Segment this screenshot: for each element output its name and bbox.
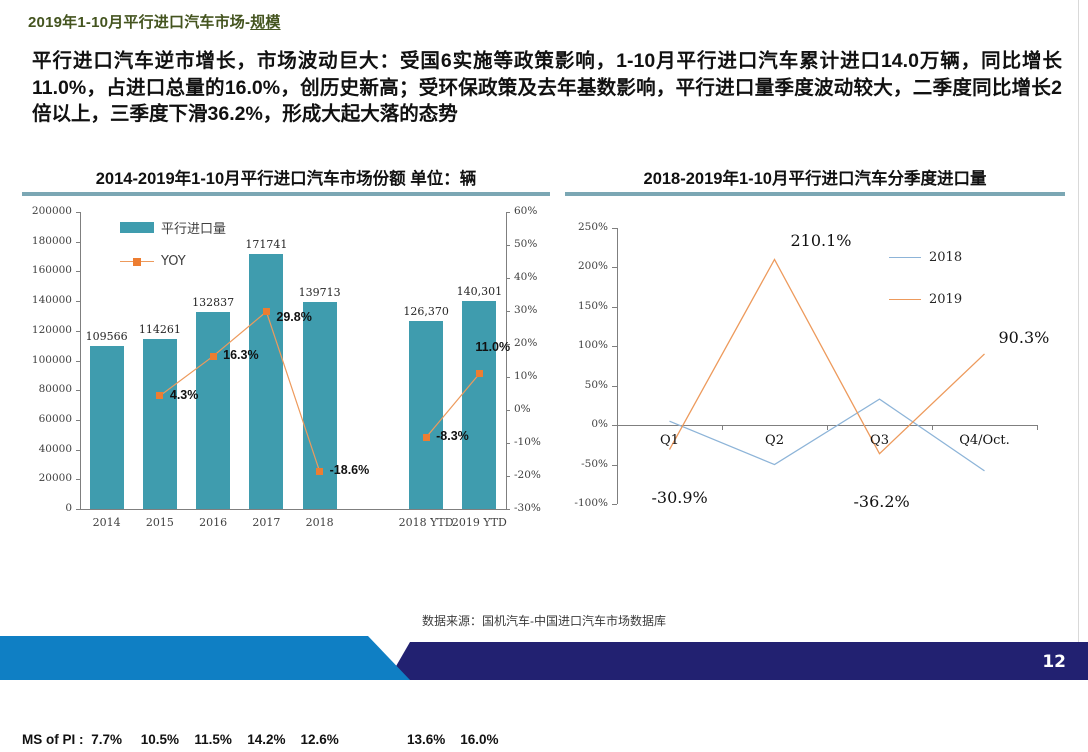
page-title-emphasis: 规模 (250, 14, 280, 31)
x-axis-category-label: 2019 YTD (445, 516, 513, 529)
right-chart-panel: 2018-2019年1-10月平行进口汽车分季度进口量 -100%-50%0%5… (565, 165, 1065, 540)
yoy-marker (210, 353, 217, 360)
legend-label: 2019 (929, 292, 962, 307)
yoy-value-label: 16.3% (223, 348, 258, 362)
x-axis-category-label: Q1 (625, 433, 715, 448)
x-axis-category-label: Q3 (835, 433, 925, 448)
legend-label: YOY (161, 254, 186, 269)
page-number: 12 (1042, 652, 1066, 672)
data-point-annotation: 210.1% (791, 231, 852, 250)
yoy-value-label: 4.3% (170, 388, 199, 402)
yoy-marker (263, 308, 270, 315)
ms-of-pi-row: MS of PI :7.7%10.5%11.5%14.2%12.6%13.6%1… (22, 732, 550, 752)
data-point-annotation: -30.9% (652, 488, 708, 507)
yoy-value-label: 11.0% (475, 340, 510, 354)
legend-item-line: YOY (120, 254, 186, 269)
x-axis-category-label: 2018 (286, 516, 354, 529)
x-axis-category-label: Q2 (730, 433, 820, 448)
footer-left-band (0, 636, 440, 680)
yoy-marker (476, 370, 483, 377)
legend-item-bar: 平行进口量 (120, 218, 226, 237)
summary-paragraph: 平行进口汽车逆市增长，市场波动巨大：受国6实施等政策影响，1-10月平行进口汽车… (32, 48, 1062, 128)
left-chart-plot: 0200004000060000800001000001200001400001… (22, 204, 550, 549)
legend-item-2018: 2018 (889, 250, 962, 265)
legend-label: 平行进口量 (161, 218, 226, 237)
ms-of-pi-value: 16.0% (445, 732, 513, 747)
right-title-rule (565, 192, 1065, 196)
bar-swatch-icon (120, 222, 154, 233)
legend-label: 2018 (929, 250, 962, 265)
data-point-annotation: 90.3% (999, 328, 1050, 347)
left-chart-title: 2014-2019年1-10月平行进口汽车市场份额 单位：辆 (22, 165, 550, 189)
footer-bar: 12 (0, 636, 1088, 680)
page-title: 2019年1-10月平行进口汽车市场-规模 (28, 11, 281, 32)
line-marker-swatch-icon (120, 256, 154, 267)
page-title-main: 2019年1-10月平行进口汽车市场- (28, 14, 250, 31)
yoy-marker (156, 392, 163, 399)
x-axis-category-label: Q4/Oct. (940, 433, 1030, 448)
right-chart-plot: -100%-50%0%50%100%150%200%250%Q1Q2Q3Q4/O… (565, 210, 1065, 540)
yoy-marker (423, 434, 430, 441)
right-chart-title: 2018-2019年1-10月平行进口汽车分季度进口量 (565, 165, 1065, 189)
slide: 2019年1-10月平行进口汽车市场-规模 平行进口汽车逆市增长，市场波动巨大：… (0, 0, 1088, 680)
data-point-annotation: -36.2% (854, 492, 910, 511)
yoy-marker (316, 468, 323, 475)
data-source-note: 数据来源：国机汽车-中国进口汽车市场数据库 (0, 612, 1088, 629)
line-swatch-icon (889, 257, 921, 259)
yoy-value-label: 29.8% (276, 310, 311, 324)
quarterly-line-series (565, 210, 1065, 540)
line-swatch-icon (889, 299, 921, 301)
left-title-rule (22, 192, 550, 196)
right-edge-rule (1078, 0, 1079, 642)
legend-item-2019: 2019 (889, 292, 962, 307)
ms-of-pi-value: 12.6% (286, 732, 354, 747)
left-chart-panel: 2014-2019年1-10月平行进口汽车市场份额 单位：辆 020000400… (22, 165, 550, 549)
summary-text: 平行进口汽车逆市增长，市场波动巨大：受国6实施等政策影响，1-10月平行进口汽车… (32, 48, 1062, 128)
yoy-line-series (22, 204, 550, 549)
yoy-value-label: -18.6% (330, 463, 370, 477)
yoy-value-label: -8.3% (436, 429, 469, 443)
